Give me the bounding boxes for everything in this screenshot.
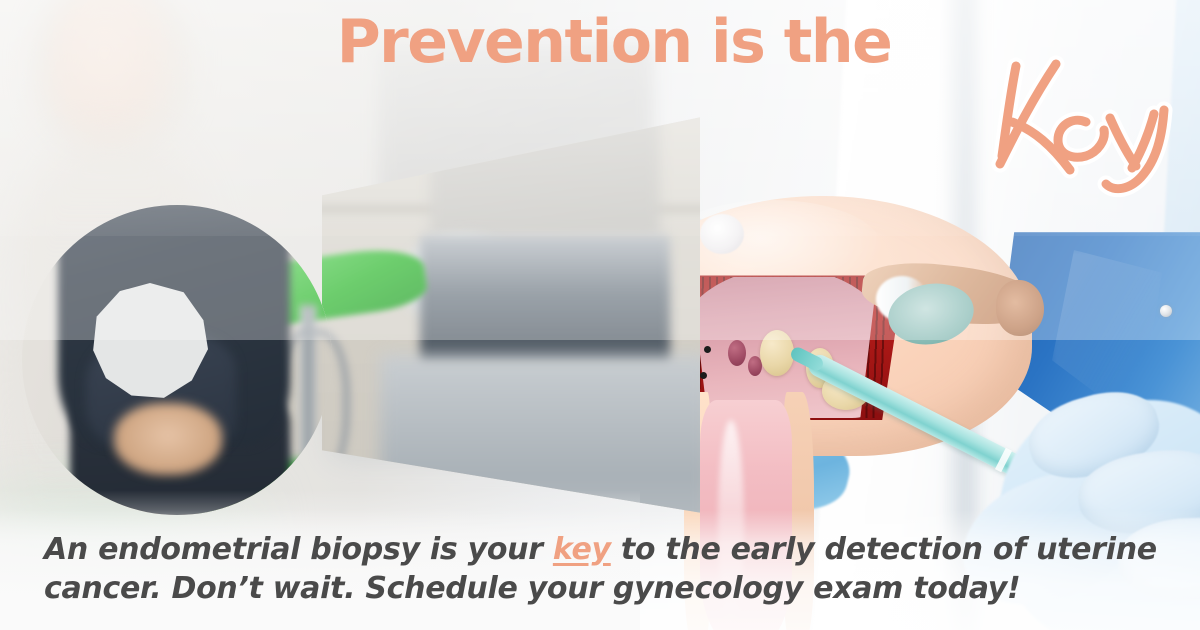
patient-hands	[114, 403, 222, 475]
uterine-polyp	[700, 214, 744, 254]
caption-keyword: key	[553, 532, 611, 567]
uterine-cyst	[728, 340, 746, 366]
caption-before-keyword: An endometrial biopsy is your	[44, 532, 553, 567]
coat-button-icon	[1160, 305, 1172, 317]
caption-text: An endometrial biopsy is your key to the…	[44, 530, 1164, 608]
right-fimbria	[996, 280, 1044, 336]
poster-canvas: Prevention is the	[0, 0, 1200, 630]
uterine-fibroid	[760, 330, 794, 376]
